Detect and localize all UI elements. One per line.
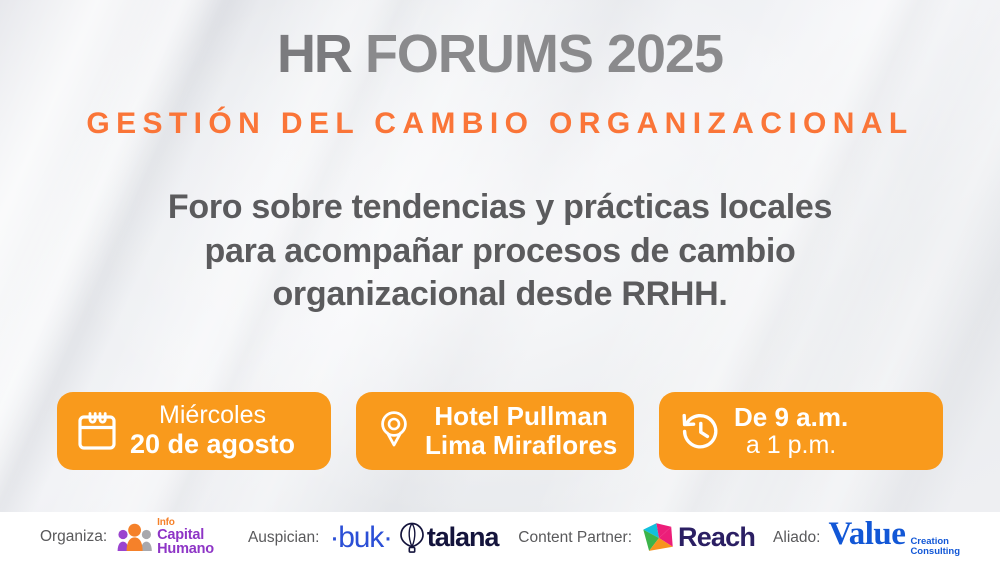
hot-air-balloon-icon — [399, 522, 425, 554]
event-description-line-2: para acompañar procesos de cambio — [0, 230, 1000, 274]
info-capital-humano-logo[interactable]: Info Capital Humano — [116, 518, 214, 556]
event-description: Foro sobre tendencias y prácticas locale… — [0, 186, 1000, 317]
pill-date-line-2: 20 de agosto — [130, 430, 295, 460]
talana-logo[interactable]: talana — [399, 522, 498, 554]
value-tagline-line-2: Consulting — [910, 547, 960, 557]
event-description-line-1: Foro sobre tendencias y prácticas locale… — [0, 186, 1000, 230]
event-banner: HR FORUMS 2025 GESTIÓN DEL CAMBIO ORGANI… — [0, 0, 1000, 563]
ich-humano-text: Humano — [157, 542, 214, 556]
value-wordmark: Value — [828, 518, 905, 551]
ich-capital-text: Capital — [157, 528, 214, 542]
event-title-hr: HR — [277, 24, 351, 84]
auspician-label: Auspician: — [248, 529, 320, 547]
pill-date-line-1: Miércoles — [159, 402, 266, 430]
pill-time-line-2: a 1 p.m. — [746, 432, 836, 460]
value-creation-consulting-logo[interactable]: Value Creation Consulting — [828, 518, 960, 556]
pill-venue[interactable]: Hotel Pullman Lima Miraflores — [356, 392, 634, 470]
pill-venue-line-1: Hotel Pullman — [434, 402, 607, 431]
event-title: HR FORUMS 2025 — [0, 26, 1000, 83]
content-partner-group: Content Partner: Reach — [518, 521, 755, 555]
aliado-label: Aliado: — [773, 529, 820, 547]
sponsor-footer: Organiza: Info Capital Humano — [0, 512, 1000, 563]
value-tagline: Creation Consulting — [910, 537, 960, 556]
talana-wordmark: talana — [427, 524, 498, 551]
organiza-label: Organiza: — [40, 528, 107, 546]
auspician-group: Auspician: ·buk· talana — [248, 522, 498, 554]
event-info-pills: Miércoles 20 de agosto Hotel Pullman Lim… — [0, 392, 1000, 470]
people-group-icon — [116, 522, 154, 552]
aliado-group: Aliado: Value Creation Consulting — [773, 518, 960, 556]
reach-wordmark: Reach — [678, 524, 755, 551]
pill-date-text: Miércoles 20 de agosto — [130, 402, 295, 459]
reach-logo[interactable]: Reach — [642, 521, 755, 555]
content-partner-label: Content Partner: — [518, 529, 632, 547]
reach-diamond-icon — [642, 521, 676, 555]
buk-logo[interactable]: ·buk· — [329, 523, 391, 553]
pill-time-line-1: De 9 a.m. — [734, 403, 848, 432]
pill-venue-text: Hotel Pullman Lima Miraflores — [425, 402, 617, 459]
info-capital-humano-wordmark: Info Capital Humano — [157, 518, 214, 556]
event-description-line-3: organizacional desde RRHH. — [0, 273, 1000, 317]
clock-history-icon — [679, 410, 721, 452]
calendar-icon — [77, 410, 117, 452]
location-pin-icon — [376, 409, 412, 453]
event-title-rest: FORUMS 2025 — [351, 24, 723, 84]
event-subtitle: GESTIÓN DEL CAMBIO ORGANIZACIONAL — [0, 107, 1000, 141]
pill-time[interactable]: De 9 a.m. a 1 p.m. — [659, 392, 943, 470]
pill-time-text: De 9 a.m. a 1 p.m. — [734, 403, 848, 459]
pill-venue-line-2: Lima Miraflores — [425, 431, 617, 460]
pill-date[interactable]: Miércoles 20 de agosto — [57, 392, 331, 470]
organiza-group: Organiza: Info Capital Humano — [40, 518, 214, 556]
